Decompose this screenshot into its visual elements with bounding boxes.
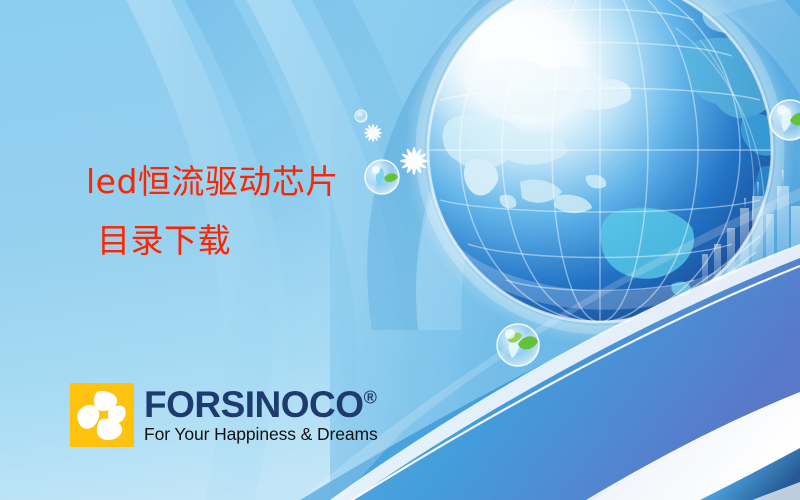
brand-name: FORSINOCO®: [144, 387, 378, 422]
brand-name-text: FORSINOCO: [144, 384, 364, 425]
pinwheel-petals-icon: [70, 383, 134, 447]
headline-line-1: led恒流驱动芯片: [86, 165, 506, 199]
brand-text: FORSINOCO® For Your Happiness & Dreams: [144, 383, 378, 444]
banner-canvas: led恒流驱动芯片 目录下载 FORSINOCO® For Your Happ: [0, 0, 800, 500]
four-petal-pinwheel-logo: [70, 383, 134, 447]
brand-logo-lockup: FORSINOCO® For Your Happiness & Dreams: [70, 383, 378, 447]
headline-block: led恒流驱动芯片 目录下载: [86, 165, 506, 257]
brand-tagline: For Your Happiness & Dreams: [144, 425, 378, 444]
headline-line-2: 目录下载: [97, 224, 506, 258]
leaf-bubble-center: [497, 324, 539, 366]
registered-trademark-symbol: ®: [364, 388, 377, 408]
small-bubble: [355, 110, 367, 122]
